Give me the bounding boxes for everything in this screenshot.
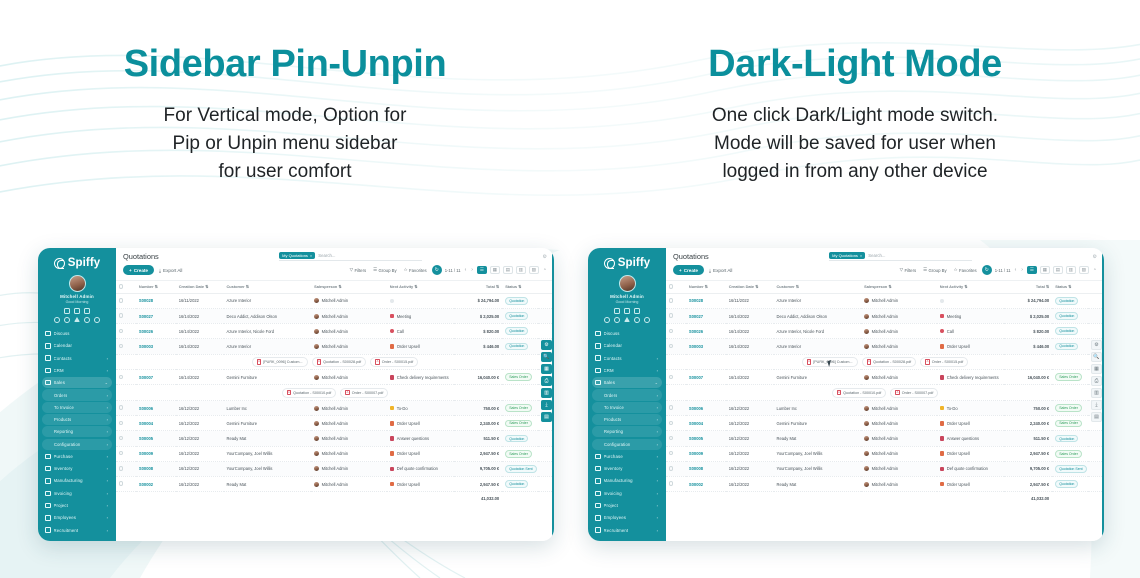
- activity-upsell-icon: [940, 344, 945, 349]
- row-checkbox[interactable]: [666, 431, 686, 446]
- row-checkbox[interactable]: [116, 416, 136, 431]
- sidebar-item-project[interactable]: Project›: [42, 500, 112, 511]
- table-row[interactable]: S0000216/12/2022Ready MatMitchell AdminO…: [116, 476, 554, 491]
- sidebar-item-invoicing[interactable]: Invoicing›: [592, 488, 662, 499]
- attachment-chip[interactable]: AQuotation - S00028.pdf: [862, 357, 917, 367]
- table-row[interactable]: S0000616/12/2022Lumber IncMitchell Admin…: [116, 401, 554, 416]
- status-badge: Sales Order: [505, 404, 532, 412]
- table-row[interactable]: S0000916/12/2022YourCompany, Joel Willis…: [666, 446, 1104, 461]
- cell-salesperson: Mitchell Admin: [311, 416, 387, 431]
- row-checkbox[interactable]: [666, 416, 686, 431]
- filter-icon: ▽: [900, 267, 903, 273]
- cell-number: S00005: [136, 431, 176, 446]
- select-all-checkbox[interactable]: [666, 281, 686, 293]
- pdf-icon: A: [287, 390, 292, 395]
- spiffy-s-logo-icon: [604, 258, 615, 269]
- table-row[interactable]: S0000716/14/2022Gemini FurnitureMitchell…: [116, 370, 554, 385]
- filters-button[interactable]: ▽ Filters: [348, 266, 369, 274]
- grid-tool-icon[interactable]: ▦: [1091, 364, 1102, 374]
- cell-next-activity: Order Upsell: [387, 476, 455, 491]
- cell-next-activity: Order Upsell: [937, 416, 1005, 431]
- chevron-right-icon[interactable]: ›: [657, 442, 658, 447]
- cell-total: $ 24,794.00: [1004, 293, 1052, 308]
- attachment-chip[interactable]: AOrder - S00007.pdf: [890, 388, 938, 398]
- sidebar-item-manufacturing[interactable]: Manufacturing›: [42, 475, 112, 486]
- attachment-chip[interactable]: AQuotation - S00010.pdf: [282, 388, 337, 398]
- chevron-right-icon[interactable]: ›: [107, 417, 108, 422]
- chevron-right-icon[interactable]: ›: [657, 466, 658, 471]
- chevron-right-icon[interactable]: ›: [107, 405, 108, 410]
- refresh-button[interactable]: ↻: [432, 265, 442, 275]
- chevron-right-icon[interactable]: ›: [657, 515, 658, 520]
- row-checkbox[interactable]: [116, 308, 136, 323]
- attachment-chip[interactable]: AOrder - S00015.pdf: [370, 357, 418, 367]
- chevron-right-icon[interactable]: ›: [657, 491, 658, 496]
- column-header-salesperson[interactable]: Salesperson ⇅: [861, 281, 937, 293]
- quotations-table: Number ⇅Creation Date ⇅Customer ⇅Salespe…: [116, 281, 554, 504]
- graph-view-icon[interactable]: ▨: [529, 266, 539, 274]
- sidebar-item-sales[interactable]: Sales⌄: [592, 377, 662, 388]
- status-badge: Quotation: [505, 435, 528, 443]
- status-badge: Sales Order: [505, 450, 532, 458]
- list-view-icon[interactable]: ☰: [1027, 266, 1037, 274]
- sidebar-item-reporting[interactable]: Reporting›: [42, 426, 112, 437]
- sidebar-item-to-invoice[interactable]: To Invoice›: [42, 402, 112, 413]
- table-row[interactable]: S0000416/12/2022Gemini FurnitureMitchell…: [666, 416, 1104, 431]
- cell-creation-date: 16/12/2022: [726, 431, 774, 446]
- row-checkbox[interactable]: [666, 339, 686, 354]
- chevron-right-icon[interactable]: ›: [107, 356, 108, 361]
- sidebar-item-reporting[interactable]: Reporting›: [592, 426, 662, 437]
- activity-upsell-icon: [390, 451, 395, 456]
- sidebar-item-products[interactable]: Products›: [592, 414, 662, 425]
- scroll-rail[interactable]: [552, 248, 554, 541]
- link-icon[interactable]: [604, 317, 610, 323]
- search-input[interactable]: Search...: [318, 253, 335, 258]
- board-tool-icon[interactable]: ▥: [1091, 388, 1102, 398]
- layers-tool-icon[interactable]: ▤: [1091, 412, 1102, 422]
- attachment-chip[interactable]: AOrder - S00015.pdf: [920, 357, 968, 367]
- row-checkbox[interactable]: [666, 324, 686, 339]
- chevron-right-icon[interactable]: ›: [657, 405, 658, 410]
- chevron-right-icon[interactable]: ›: [107, 491, 108, 496]
- column-header-next-activity[interactable]: Next Activity ⇅: [937, 281, 1005, 293]
- table-row[interactable]: S0000916/12/2022YourCompany, Joel Willis…: [116, 446, 554, 461]
- chevron-right-icon[interactable]: ›: [107, 478, 108, 483]
- cell-creation-date: 16/12/2022: [726, 476, 774, 491]
- table-row[interactable]: S0000516/12/2022Ready MatMitchell AdminA…: [116, 431, 554, 446]
- phone-icon[interactable]: [614, 308, 620, 314]
- sidebar-item-invoicing[interactable]: Invoicing›: [42, 488, 112, 499]
- sidebar-item-label: Project: [54, 503, 68, 508]
- layers-tool-icon[interactable]: ▤: [541, 412, 552, 422]
- search-facet[interactable]: My Quotations ×: [279, 252, 315, 259]
- export-all-button[interactable]: ⤓ Export All: [154, 265, 187, 275]
- cell-customer: Lumber Inc: [774, 401, 862, 416]
- home-icon[interactable]: [74, 308, 80, 314]
- search-tool-icon[interactable]: 🔍: [1091, 352, 1102, 362]
- sidebar-item-inventory[interactable]: Inventory›: [42, 463, 112, 474]
- sidebar-item-crm[interactable]: CRM›: [42, 365, 112, 376]
- sidebar-item-manufacturing[interactable]: Manufacturing›: [592, 475, 662, 486]
- column-header-number[interactable]: Number ⇅: [686, 281, 726, 293]
- pin-icon[interactable]: [94, 317, 100, 323]
- sidebar-item-calendar[interactable]: Calendar: [42, 340, 112, 351]
- table-row[interactable]: S0000816/12/2022YourCompany, Joel Willis…: [666, 461, 1104, 476]
- table-row[interactable]: S0000416/12/2022Gemini FurnitureMitchell…: [116, 416, 554, 431]
- recruitment-icon: [595, 527, 601, 533]
- avatar: [314, 344, 319, 349]
- search-tool-icon[interactable]: 🔍: [541, 352, 552, 362]
- chevron-right-icon[interactable]: ›: [657, 429, 658, 434]
- groupby-button-2[interactable]: ☰ Group By: [921, 266, 949, 274]
- chevron-right-icon[interactable]: ›: [657, 528, 658, 533]
- chevron-right-icon[interactable]: ›: [107, 515, 108, 520]
- sidebar-item-crm[interactable]: CRM›: [592, 365, 662, 376]
- list-view-icon[interactable]: ☰: [477, 266, 487, 274]
- sidebar-item-orders[interactable]: Orders›: [592, 389, 662, 400]
- chevron-right-icon[interactable]: ›: [107, 454, 108, 459]
- bell-icon[interactable]: [634, 317, 640, 323]
- activity-view-icon[interactable]: ◔: [542, 267, 547, 273]
- column-header-creation-date[interactable]: Creation Date ⇅: [726, 281, 774, 293]
- purchase-icon: [45, 454, 51, 460]
- sales-icon: [595, 380, 601, 386]
- sidebar-item-to-invoice[interactable]: To Invoice›: [592, 402, 662, 413]
- pdf-icon: A: [257, 359, 262, 364]
- sidebar-item-contacts[interactable]: Contacts›: [592, 353, 662, 364]
- avatar: [864, 375, 869, 380]
- user-name: Mitchell Admin: [42, 294, 112, 299]
- sidebar-item-configuration[interactable]: Configuration›: [592, 439, 662, 450]
- avatar: [864, 406, 869, 411]
- avatar-2[interactable]: [619, 275, 636, 292]
- attachment-chip[interactable]: A[PURK_0096] Custom...: [252, 357, 308, 367]
- pin-icon[interactable]: [644, 317, 650, 323]
- status-badge: Quotation: [505, 297, 528, 305]
- chevron-right-icon[interactable]: ›: [107, 466, 108, 471]
- floating-tool-strip: ⚙🔍▦⎙▥⤓▤: [541, 340, 552, 422]
- groupby-icon: ☰: [373, 267, 377, 273]
- sidebar-item-employees[interactable]: Employees›: [592, 512, 662, 523]
- link-alt-icon[interactable]: [64, 317, 70, 323]
- floating-tool-strip-2: ⚙🔍▦⎙▥⤓▤: [1091, 340, 1102, 422]
- cell-customer: Gemini Furniture: [774, 370, 862, 385]
- sidebar-item-label: Inventory: [604, 466, 623, 471]
- cell-creation-date: 16/12/2022: [726, 401, 774, 416]
- phone-icon[interactable]: [64, 308, 70, 314]
- search-box-2[interactable]: My Quotations × Search...: [829, 252, 972, 261]
- table-row[interactable]: S0000516/12/2022Ready MatMitchell AdminA…: [666, 431, 1104, 446]
- contacts-icon: [45, 355, 51, 361]
- search-input-2[interactable]: Search...: [868, 253, 885, 258]
- avatar: [314, 451, 319, 456]
- search-box[interactable]: My Quotations × Search...: [279, 252, 422, 261]
- sidebar-item-label: CRM: [604, 368, 614, 373]
- column-header-next-activity[interactable]: Next Activity ⇅: [387, 281, 455, 293]
- sidebar-item-sales[interactable]: Sales⌄: [42, 377, 112, 388]
- sidebar-item-label: Orders: [604, 393, 617, 398]
- export-label: Export All: [163, 268, 182, 273]
- feature-description-2: One click Dark/Light mode switch. Mode w…: [570, 102, 1140, 186]
- row-checkbox[interactable]: [116, 293, 136, 308]
- cell-total: 2,947.50 €: [454, 446, 502, 461]
- cell-status: Quotation Sent: [502, 461, 538, 476]
- column-header-status[interactable]: Status ⇅: [1052, 281, 1088, 293]
- pager-prev-button-2[interactable]: ‹: [1014, 267, 1018, 273]
- cell-number: S00026: [686, 324, 726, 339]
- print-tool-icon[interactable]: ⎙: [541, 376, 552, 386]
- cell-total: $ 820.00: [1004, 324, 1052, 339]
- cell-number: S00006: [136, 401, 176, 416]
- app-mockup-pinned-sidebar: Spiffy Mitchell Admin Good Morning: [38, 248, 554, 541]
- sidebar-item-discuss[interactable]: Discuss: [592, 328, 662, 339]
- pager-label-2: 1-11 / 11: [995, 268, 1011, 273]
- sidebar-item-label: Sales: [54, 380, 66, 385]
- row-checkbox[interactable]: [666, 461, 686, 476]
- sidebar-item-purchase[interactable]: Purchase›: [42, 451, 112, 462]
- row-checkbox[interactable]: [116, 431, 136, 446]
- status-badge: Quotation: [505, 327, 528, 335]
- column-header-total[interactable]: Total ⇅: [1004, 281, 1052, 293]
- sidebar-item-employees[interactable]: Employees›: [42, 512, 112, 523]
- quotations-table-wrap-2[interactable]: Number ⇅Creation Date ⇅Customer ⇅Salespe…: [666, 281, 1104, 541]
- sidebar-item-orders[interactable]: Orders›: [42, 389, 112, 400]
- calendar-view-icon[interactable]: ▤: [503, 266, 513, 274]
- table-row[interactable]: S0000616/12/2022Lumber IncMitchell Admin…: [666, 401, 1104, 416]
- groupby-button[interactable]: ☰ Group By: [371, 266, 399, 274]
- select-all-checkbox[interactable]: [116, 281, 136, 293]
- attachment-label: Quotation - S00010.pdf: [293, 391, 331, 395]
- attachment-chip[interactable]: AOrder - S00007.pdf: [340, 388, 388, 398]
- scroll-rail-2[interactable]: [1102, 248, 1104, 541]
- table-row[interactable]: S0000316/14/2022Azure InteriorMitchell A…: [116, 339, 554, 354]
- row-checkbox[interactable]: [116, 324, 136, 339]
- create-button[interactable]: + Create: [123, 265, 154, 275]
- sidebar-menu-2: DiscussCalendarContacts›CRM›Sales⌄Orders…: [592, 328, 662, 537]
- activity-view-icon[interactable]: ◔: [1092, 267, 1097, 273]
- sidebar-item-calendar[interactable]: Calendar: [592, 340, 662, 351]
- favorites-button-2[interactable]: ☆ Favorites: [952, 266, 979, 274]
- plus-icon: +: [679, 268, 682, 273]
- column-header-total[interactable]: Total ⇅: [454, 281, 502, 293]
- refresh-button-2[interactable]: ↻: [982, 265, 992, 275]
- column-header-status[interactable]: Status ⇅: [502, 281, 538, 293]
- activity-todo-icon: [390, 406, 395, 411]
- row-checkbox[interactable]: [666, 446, 686, 461]
- sidebar-item-label: Project: [604, 503, 618, 508]
- row-checkbox[interactable]: [666, 476, 686, 491]
- grid-icon[interactable]: [84, 308, 90, 314]
- cell-status: Sales Order: [1052, 370, 1088, 385]
- activity-upsell-icon: [390, 482, 395, 487]
- sidebar-item-discuss[interactable]: Discuss: [42, 328, 112, 339]
- table-row[interactable]: S0002616/14/2022Azure Interior, Nicole F…: [666, 324, 1104, 339]
- attachment-row: A[PURK_0096] Custom...AQuotation - S0002…: [116, 354, 554, 370]
- pager-prev-button[interactable]: ‹: [464, 267, 468, 273]
- cell-creation-date: 16/11/2022: [176, 293, 224, 308]
- table-row[interactable]: S0000316/14/2022Azure InteriorMitchell A…: [666, 339, 1104, 354]
- sidebar-item-project[interactable]: Project›: [592, 500, 662, 511]
- manufacturing-icon: [595, 478, 601, 484]
- row-checkbox[interactable]: [116, 370, 136, 385]
- cell-number: S00009: [686, 446, 726, 461]
- create-button-2[interactable]: + Create: [673, 265, 704, 275]
- grid-tool-icon[interactable]: ▦: [541, 364, 552, 374]
- invoicing-icon: [595, 491, 601, 497]
- chevron-right-icon[interactable]: ›: [107, 393, 108, 398]
- chevron-right-icon[interactable]: ›: [107, 442, 108, 447]
- pivot-view-icon[interactable]: ▥: [516, 266, 526, 274]
- sidebar-item-purchase[interactable]: Purchase›: [592, 451, 662, 462]
- search-facet-2[interactable]: My Quotations ×: [829, 252, 865, 259]
- column-header-customer[interactable]: Customer ⇅: [224, 281, 312, 293]
- column-header-creation-date[interactable]: Creation Date ⇅: [176, 281, 224, 293]
- cell-salesperson: Mitchell Admin: [861, 293, 937, 308]
- cell-next-activity: Call: [937, 324, 1005, 339]
- table-row[interactable]: S0000816/12/2022YourCompany, Joel Willis…: [116, 461, 554, 476]
- pager-next-button-2[interactable]: ›: [1020, 267, 1024, 273]
- quotations-table-wrap[interactable]: Number ⇅Creation Date ⇅Customer ⇅Salespe…: [116, 281, 554, 541]
- print-tool-icon[interactable]: ⎙: [1091, 376, 1102, 386]
- column-header-number[interactable]: Number ⇅: [136, 281, 176, 293]
- export-all-button-2[interactable]: ⤓ Export All: [704, 265, 737, 275]
- chevron-down-icon[interactable]: ⌄: [105, 380, 108, 385]
- table-row[interactable]: S0002616/14/2022Azure Interior, Nicole F…: [116, 324, 554, 339]
- table-row[interactable]: S0002816/11/2022Azure InteriorMitchell A…: [666, 293, 1104, 308]
- bell-icon[interactable]: [84, 317, 90, 323]
- chevron-right-icon[interactable]: ›: [657, 454, 658, 459]
- column-header-customer[interactable]: Customer ⇅: [774, 281, 862, 293]
- row-checkbox[interactable]: [666, 308, 686, 323]
- status-badge: Sales Order: [1055, 450, 1082, 458]
- chevron-right-icon[interactable]: ›: [107, 503, 108, 508]
- favorites-label: Favorites: [409, 268, 427, 273]
- calendar-icon: [595, 343, 601, 349]
- cell-status: Quotation: [502, 324, 538, 339]
- pager-next-button[interactable]: ›: [470, 267, 474, 273]
- chevron-right-icon[interactable]: ›: [657, 368, 658, 373]
- cell-number: S00004: [686, 416, 726, 431]
- row-checkbox[interactable]: [116, 476, 136, 491]
- sidebar-item-contacts[interactable]: Contacts›: [42, 353, 112, 364]
- cell-total: $ 2,025.00: [1004, 308, 1052, 323]
- attachment-chip[interactable]: AQuotation - S00028.pdf: [312, 357, 367, 367]
- status-badge: Quotation: [505, 480, 528, 488]
- settings-tool-icon[interactable]: ⚙: [541, 340, 552, 350]
- row-checkbox[interactable]: [116, 339, 136, 354]
- chevron-right-icon[interactable]: ›: [107, 368, 108, 373]
- kanban-view-icon[interactable]: ▦: [490, 266, 500, 274]
- table-row[interactable]: S0000216/12/2022Ready MatMitchell AdminO…: [666, 476, 1104, 491]
- settings-tool-icon[interactable]: ⚙: [1091, 340, 1102, 350]
- link-alt-icon[interactable]: [614, 317, 620, 323]
- cell-creation-date: 16/12/2022: [726, 416, 774, 431]
- row-checkbox[interactable]: [666, 401, 686, 416]
- board-tool-icon[interactable]: ▥: [541, 388, 552, 398]
- quick-icons-row-2: [42, 317, 112, 323]
- download-icon: ⤓: [709, 268, 711, 273]
- row-checkbox[interactable]: [116, 401, 136, 416]
- pdf-icon: A: [895, 390, 900, 395]
- sidebar-item-recruitment[interactable]: Recruitment›: [592, 525, 662, 536]
- cell-next-activity: Order Upsell: [937, 339, 1005, 354]
- cell-creation-date: 16/14/2022: [726, 339, 774, 354]
- row-checkbox[interactable]: [666, 293, 686, 308]
- chevron-down-icon[interactable]: ⌄: [655, 380, 658, 385]
- avatar: [864, 482, 869, 487]
- table-row[interactable]: S0002716/14/2022Deco Addict, Addison Ols…: [116, 308, 554, 323]
- chat-icon[interactable]: [74, 317, 80, 322]
- sidebar-item-inventory[interactable]: Inventory›: [592, 463, 662, 474]
- calendar-view-icon[interactable]: ▤: [1053, 266, 1063, 274]
- sidebar-item-label: Discuss: [54, 331, 70, 336]
- graph-view-icon[interactable]: ▨: [1079, 266, 1089, 274]
- cell-customer: YourCompany, Joel Willis: [224, 461, 312, 476]
- attachment-label: Order - S00007.pdf: [902, 391, 934, 395]
- chevron-right-icon[interactable]: ›: [657, 393, 658, 398]
- chevron-right-icon[interactable]: ›: [107, 429, 108, 434]
- export-tool-icon[interactable]: ⤓: [1091, 400, 1102, 410]
- sidebar-item-products[interactable]: Products›: [42, 414, 112, 425]
- chat-icon[interactable]: [624, 317, 630, 322]
- gear-icon[interactable]: ⚙: [543, 254, 547, 260]
- cell-salesperson: Mitchell Admin: [861, 308, 937, 323]
- grand-total-row: 41,032.00: [116, 492, 554, 505]
- avatar[interactable]: [69, 275, 86, 292]
- chevron-right-icon[interactable]: ›: [657, 503, 658, 508]
- close-icon[interactable]: ×: [860, 253, 862, 258]
- create-label: Create: [134, 268, 148, 273]
- sidebar-item-recruitment[interactable]: Recruitment›: [42, 525, 112, 536]
- chevron-right-icon[interactable]: ›: [657, 478, 658, 483]
- row-checkbox[interactable]: [666, 370, 686, 385]
- row-checkbox[interactable]: [116, 446, 136, 461]
- attachment-row: AQuotation - S00010.pdfAOrder - S00007.p…: [666, 385, 1104, 401]
- export-tool-icon[interactable]: ⤓: [541, 400, 552, 410]
- row-checkbox[interactable]: [116, 461, 136, 476]
- table-row[interactable]: S0002816/11/2022Azure InteriorMitchell A…: [116, 293, 554, 308]
- cell-number: S00004: [136, 416, 176, 431]
- column-header-salesperson[interactable]: Salesperson ⇅: [311, 281, 387, 293]
- grid-icon[interactable]: [634, 308, 640, 314]
- favorites-button[interactable]: ☆ Favorites: [402, 266, 429, 274]
- chevron-right-icon[interactable]: ›: [657, 417, 658, 422]
- cell-number: S00003: [136, 339, 176, 354]
- filters-button-2[interactable]: ▽ Filters: [898, 266, 919, 274]
- cell-salesperson: Mitchell Admin: [311, 339, 387, 354]
- sidebar-item-configuration[interactable]: Configuration›: [42, 439, 112, 450]
- link-icon[interactable]: [54, 317, 60, 323]
- table-row[interactable]: S0002716/14/2022Deco Addict, Addison Ols…: [666, 308, 1104, 323]
- pdf-icon: A: [837, 390, 842, 395]
- chevron-right-icon[interactable]: ›: [107, 528, 108, 533]
- plus-icon: +: [129, 268, 132, 273]
- attachment-label: Order - S00015.pdf: [932, 360, 964, 364]
- attachment-chip[interactable]: AQuotation - S00010.pdf: [832, 388, 887, 398]
- gear-icon[interactable]: ⚙: [1093, 254, 1097, 260]
- feature-description-1: For Vertical mode, Option for Pip or Unp…: [0, 102, 570, 186]
- cell-next-activity: Order Upsell: [387, 416, 455, 431]
- pivot-view-icon[interactable]: ▥: [1066, 266, 1076, 274]
- table-row[interactable]: S0000716/14/2022Gemini FurnitureMitchell…: [666, 370, 1104, 385]
- close-icon[interactable]: ×: [310, 253, 312, 258]
- app-mockups: Spiffy Mitchell Admin Good Morning: [0, 248, 1140, 548]
- home-icon[interactable]: [624, 308, 630, 314]
- kanban-view-icon[interactable]: ▦: [1040, 266, 1050, 274]
- chevron-right-icon[interactable]: ›: [657, 356, 658, 361]
- cell-number: S00009: [136, 446, 176, 461]
